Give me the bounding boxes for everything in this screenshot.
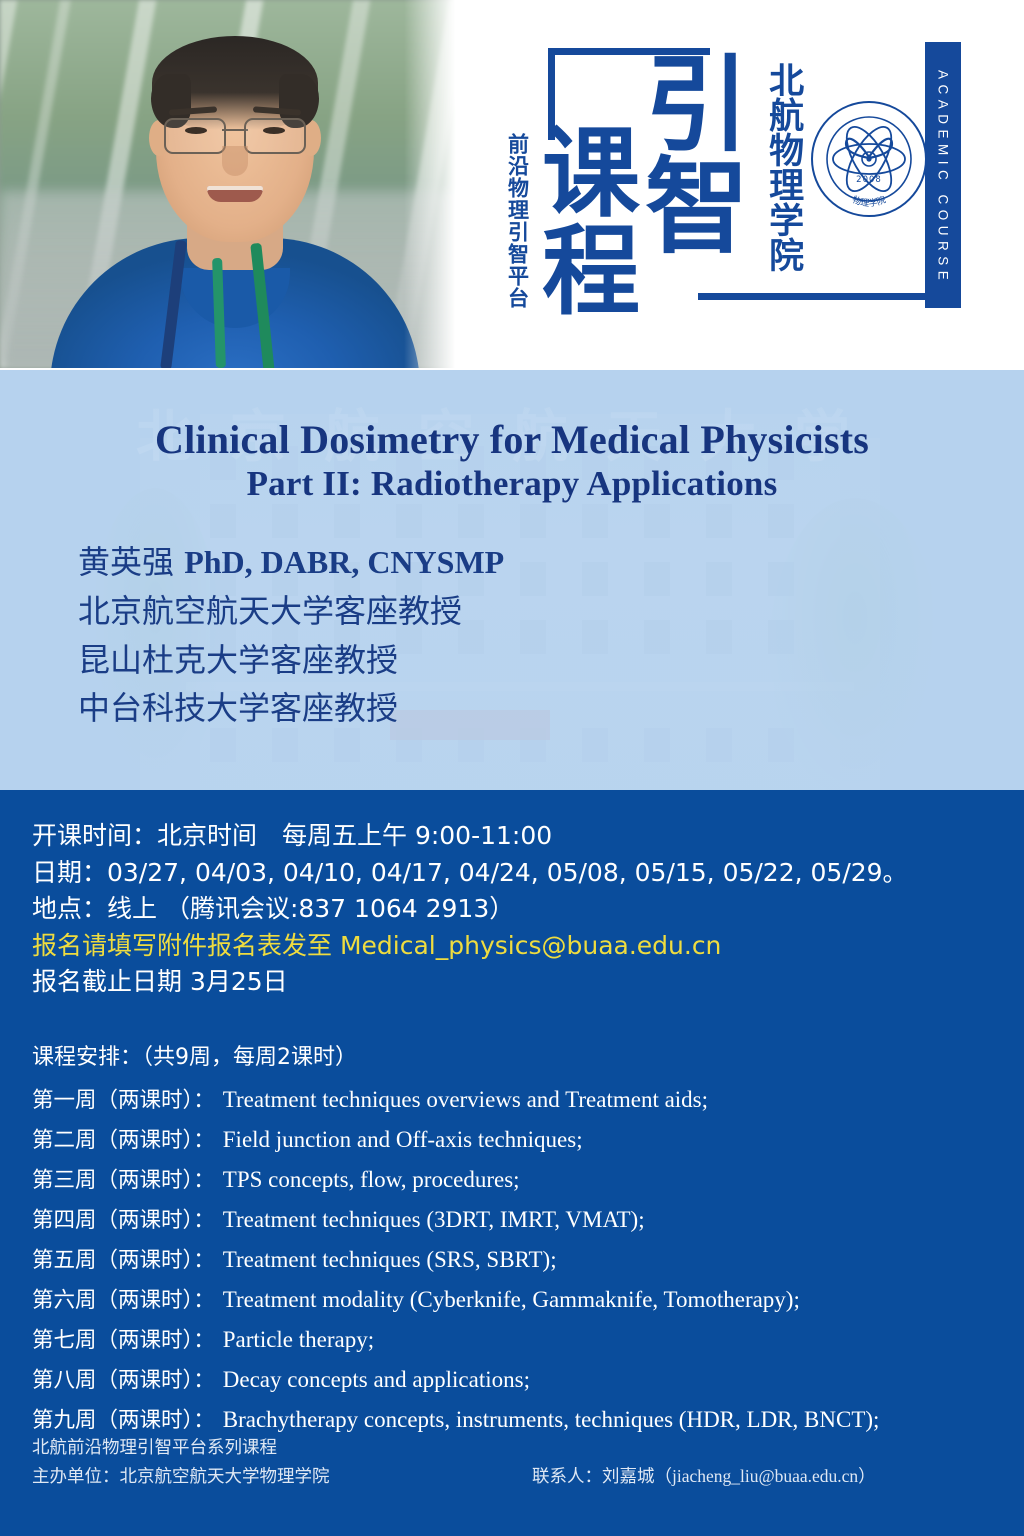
svg-text:2008: 2008 — [856, 175, 882, 185]
meta-location: 地点：线上 （腾讯会议:837 1064 2913） — [32, 891, 1024, 928]
title-wrapper: Clinical Dosimetry for Medical Physicist… — [0, 370, 1024, 504]
poster-header: 前沿物理引智平台 课程 引智 北航物理学院 2008 北京航空航天大学 物理学院… — [0, 0, 1024, 370]
glasses-lens-right — [244, 118, 306, 154]
schedule-week-label: 第一周（两课时）： — [32, 1083, 215, 1114]
portrait-nose — [222, 146, 248, 176]
schedule-week-label: 第六周（两课时）： — [32, 1283, 215, 1314]
poster-footer: 北航前沿物理引智平台系列课程 主办单位：北京航空航天大学物理学院 联系人：刘嘉城… — [32, 1432, 992, 1489]
schedule-week-label: 第七周（两课时）： — [32, 1323, 215, 1354]
schedule-heading: 课程安排：（共9周，每周2课时） — [32, 1041, 1024, 1074]
schedule-topic: Field junction and Off-axis techniques; — [223, 1127, 583, 1153]
meta-registration-deadline: 报名截止日期 3月25日 — [32, 964, 1024, 1001]
title-band: 北京航空航天大学 Clinical Dosimetry for Medical … — [0, 370, 1024, 790]
page-title-line2: Part II: Radiotherapy Applications — [0, 463, 1024, 504]
schedule-topic: Particle therapy; — [223, 1327, 374, 1353]
speaker-name: 黄英强 — [78, 543, 174, 581]
schedule-row: 第五周（两课时）： Treatment techniques (SRS, SBR… — [32, 1243, 1024, 1274]
speaker-affiliation-2: 昆山杜克大学客座教授 — [78, 636, 1024, 685]
schedule-week-label: 第三周（两课时）： — [32, 1163, 215, 1194]
schedule-topic: Treatment techniques (SRS, SBRT); — [223, 1247, 557, 1273]
portrait-mouth — [207, 186, 263, 202]
schedule-topic: Treatment techniques overviews and Treat… — [223, 1087, 708, 1113]
schedule-row: 第九周（两课时）： Brachytherapy concepts, instru… — [32, 1403, 1024, 1434]
speaker-portrait — [0, 0, 470, 368]
portrait-eye-right — [263, 127, 285, 134]
meta-registration-email[interactable]: 报名请填写附件报名表发至 Medical_physics@buaa.edu.cn — [32, 928, 1024, 965]
schedule-topic: Treatment techniques (3DRT, IMRT, VMAT); — [223, 1207, 645, 1233]
schedule-row: 第八周（两课时）： Decay concepts and application… — [32, 1363, 1024, 1394]
schedule-row: 第七周（两课时）： Particle therapy; — [32, 1323, 1024, 1354]
schedule-topic: Decay concepts and applications; — [223, 1367, 530, 1393]
schedule-row: 第四周（两课时）： Treatment techniques (3DRT, IM… — [32, 1203, 1024, 1234]
schedule-row: 第三周（两课时）： TPS concepts, flow, procedures… — [32, 1163, 1024, 1194]
page-title-line1: Clinical Dosimetry for Medical Physicist… — [0, 416, 1024, 463]
schedule-row: 第一周（两课时）： Treatment techniques overviews… — [32, 1083, 1024, 1114]
speaker-affiliation-1: 北京航空航天大学客座教授 — [78, 587, 1024, 636]
schedule-week-label: 第二周（两课时）： — [32, 1123, 215, 1154]
course-info-section: 开课时间：北京时间 每周五上午 9:00-11:00 日期：03/27, 04/… — [0, 790, 1024, 1536]
portrait-fade-overlay — [404, 0, 470, 368]
schedule-topic: Treatment modality (Cyberknife, Gammakni… — [223, 1287, 800, 1313]
speaker-credentials: PhD, DABR, CNYSMP — [184, 544, 504, 580]
speaker-affiliation-3: 中台科技大学客座教授 — [78, 684, 1024, 733]
footer-series-name: 北航前沿物理引智平台系列课程 — [32, 1432, 992, 1464]
schedule-week-label: 第九周（两课时）： — [32, 1403, 215, 1434]
logo-bigchars-yinzhi: 引智 — [645, 55, 737, 305]
logo-tagline-vertical: 前沿物理引智平台 — [505, 133, 529, 309]
university-seal-icon: 2008 北京航空航天大学 物理学院 — [810, 100, 928, 218]
footer-row: 主办单位：北京航空航天大学物理学院 联系人：刘嘉城（jiacheng_liu@b… — [32, 1463, 992, 1488]
speaker-name-row: 黄英强 PhD, DABR, CNYSMP — [78, 538, 1024, 587]
meta-dates: 日期：03/27, 04/03, 04/10, 04/17, 04/24, 05… — [32, 855, 1024, 892]
logo-bigchars-kecheng: 课程 — [542, 125, 638, 365]
schedule-topic: TPS concepts, flow, procedures; — [223, 1167, 520, 1193]
speaker-info: 黄英强 PhD, DABR, CNYSMP 北京航空航天大学客座教授 昆山杜克大… — [78, 538, 1024, 733]
svg-text:物理学院: 物理学院 — [850, 193, 887, 209]
schedule-row: 第六周（两课时）： Treatment modality (Cyberknife… — [32, 1283, 1024, 1314]
footer-organizer: 主办单位：北京航空航天大学物理学院 — [32, 1463, 532, 1488]
schedule-week-label: 第四周（两课时）： — [32, 1203, 215, 1234]
meta-course-time: 开课时间：北京时间 每周五上午 9:00-11:00 — [32, 818, 1024, 855]
portrait-eye-left — [185, 127, 207, 134]
schedule-topic: Brachytherapy concepts, instruments, tec… — [223, 1407, 880, 1433]
program-logo-block: 前沿物理引智平台 课程 引智 北航物理学院 2008 北京航空航天大学 物理学院… — [470, 0, 1024, 370]
glasses-lens-left — [164, 118, 226, 154]
schedule-week-label: 第八周（两课时）： — [32, 1363, 215, 1394]
logo-department-vertical: 北航物理学院 — [764, 62, 801, 272]
academic-course-label: ACADEMIC COURSE — [925, 42, 961, 308]
schedule-week-label: 第五周（两课时）： — [32, 1243, 215, 1274]
schedule-row: 第二周（两课时）： Field junction and Off-axis te… — [32, 1123, 1024, 1154]
footer-contact[interactable]: 联系人：刘嘉城（jiacheng_liu@buaa.edu.cn） — [532, 1463, 876, 1488]
